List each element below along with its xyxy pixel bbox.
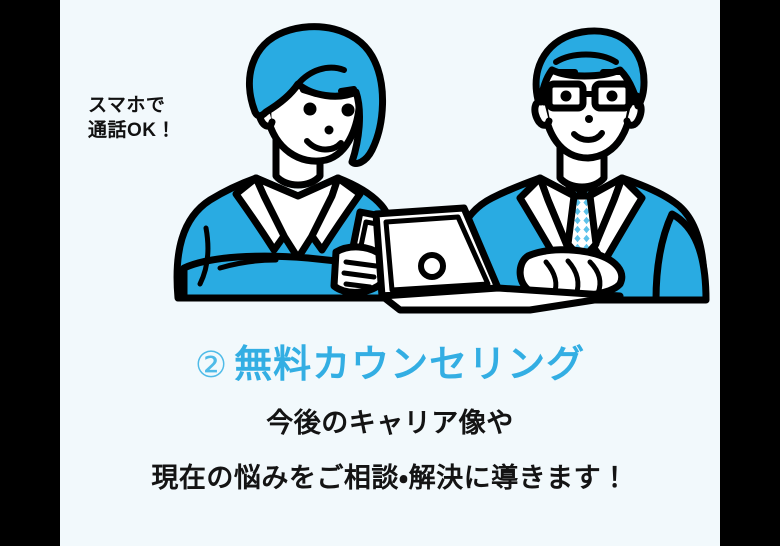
description-line-1: 今後のキャリア像や [60, 410, 720, 437]
callout-text: スマホで 通話OK！ [88, 93, 208, 143]
page-title-text: 無料カウンセリング [234, 344, 585, 386]
screenshot-root: スマホで 通話OK！ ②無料カウンセリング 今後のキャリア像や 現在の悩みをご相… [0, 0, 780, 546]
page-title: ②無料カウンセリング [60, 344, 720, 388]
illustration [60, 0, 720, 330]
letterbox-bar-left [0, 0, 60, 546]
text-block: ②無料カウンセリング 今後のキャリア像や 現在の悩みをご相談・解決に導きます！ [60, 330, 720, 492]
letterbox-bar-right [720, 0, 780, 546]
callout-line-2: 通話OK！ [88, 118, 208, 143]
figure-man [376, 31, 706, 310]
callout-line-1: スマホで [88, 93, 208, 118]
content-canvas: スマホで 通話OK！ ②無料カウンセリング 今後のキャリア像や 現在の悩みをご相… [60, 0, 720, 546]
step-number-badge: ② [195, 344, 228, 385]
description-line-2: 現在の悩みをご相談・解決に導きます！ [60, 465, 720, 492]
